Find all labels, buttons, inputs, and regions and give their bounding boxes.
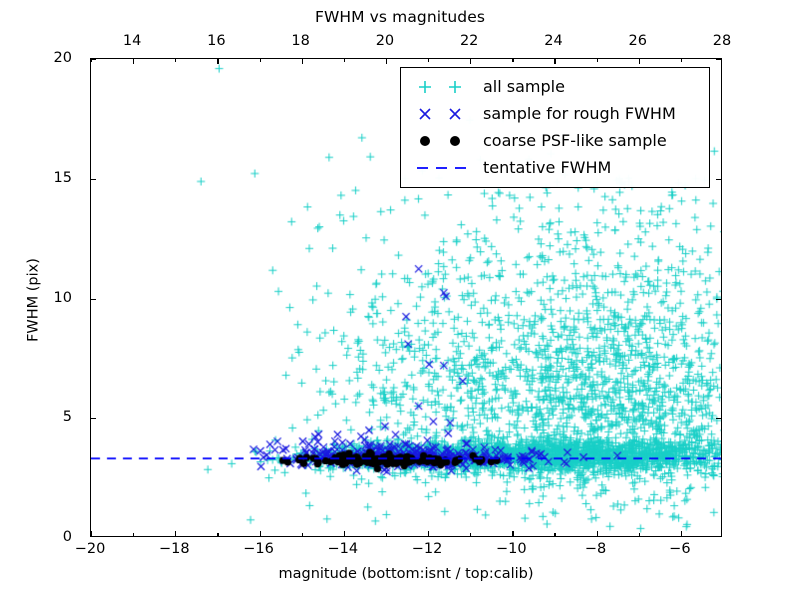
y-tick-right <box>716 59 721 60</box>
x-tick-major <box>597 531 598 536</box>
legend-item: tentative FWHM <box>409 154 701 181</box>
x-tick-major <box>512 531 513 536</box>
page-title: FWHM vs magnitudes <box>0 8 800 26</box>
y-tick-right <box>716 299 721 300</box>
x-top-tick-major <box>302 59 303 64</box>
x-top-tick-minor <box>344 59 345 62</box>
x-top-tick-major <box>470 59 471 64</box>
y-tick-major <box>91 299 96 300</box>
x-tick-minor <box>217 533 218 536</box>
y-tick-major <box>91 59 96 60</box>
y-axis-label: FWHM (pix) <box>26 61 42 540</box>
x-tick-minor <box>470 533 471 536</box>
x-tick-major <box>175 531 176 536</box>
x-top-tick-minor <box>681 59 682 62</box>
legend-item: sample for rough FWHM <box>409 100 701 127</box>
y-tick-label: 5 <box>63 409 72 425</box>
x-top-tick-minor <box>597 59 598 62</box>
x-tick-major <box>91 531 92 536</box>
y-tick-label: 10 <box>54 290 72 306</box>
figure-canvas: FWHM vs magnitudes −20−18−16−14−12−10−8−… <box>0 0 800 600</box>
x-tick-label: −12 <box>412 541 443 557</box>
x-tick-major <box>260 531 261 536</box>
x-top-tick-label: 14 <box>123 33 141 49</box>
x-top-tick-major <box>217 59 218 64</box>
x-top-tick-minor <box>512 59 513 62</box>
x-tick-minor <box>133 533 134 536</box>
circle-marker-icon <box>409 129 483 153</box>
y-tick-right <box>716 179 721 180</box>
x-tick-major <box>428 531 429 536</box>
x-tick-minor <box>302 533 303 536</box>
x-top-tick-label: 20 <box>376 33 394 49</box>
legend-item: coarse PSF-like sample <box>409 127 701 154</box>
x-tick-label: −18 <box>159 541 190 557</box>
y-tick-label: 0 <box>63 529 72 545</box>
x-top-tick-minor <box>260 59 261 62</box>
x-top-tick-minor <box>175 59 176 62</box>
y-tick-major <box>91 418 96 419</box>
x-tick-minor <box>554 533 555 536</box>
x-tick-minor <box>386 533 387 536</box>
x-top-tick-minor <box>428 59 429 62</box>
legend-item-label: sample for rough FWHM <box>483 106 676 122</box>
x-tick-label: −16 <box>243 541 274 557</box>
x-tick-major <box>344 531 345 536</box>
x-top-tick-major <box>133 59 134 64</box>
x-top-tick-label: 28 <box>713 33 731 49</box>
y-tick-major <box>91 179 96 180</box>
x-tick-major <box>681 531 682 536</box>
cross-marker-icon <box>409 102 483 126</box>
y-tick-label: 15 <box>54 170 72 186</box>
x-top-tick-label: 18 <box>291 33 309 49</box>
x-top-tick-major <box>554 59 555 64</box>
x-top-tick-label: 26 <box>628 33 646 49</box>
chart-legend: all samplesample for rough FWHMcoarse PS… <box>400 67 710 188</box>
x-tick-label: −6 <box>669 541 690 557</box>
x-top-tick-major <box>386 59 387 64</box>
legend-item-label: all sample <box>483 79 565 95</box>
dashed-line-marker-icon <box>409 156 483 180</box>
x-axis-label: magnitude (bottom:isnt / top:calib) <box>90 566 722 582</box>
x-tick-label: −14 <box>327 541 358 557</box>
x-top-tick-label: 16 <box>207 33 225 49</box>
x-tick-label: −20 <box>75 541 106 557</box>
y-tick-right <box>716 418 721 419</box>
legend-item: all sample <box>409 73 701 100</box>
x-tick-label: −8 <box>585 541 606 557</box>
x-top-tick-label: 24 <box>544 33 562 49</box>
x-tick-label: −10 <box>496 541 527 557</box>
y-tick-label: 20 <box>54 50 72 66</box>
legend-item-label: tentative FWHM <box>483 160 611 176</box>
x-tick-minor <box>639 533 640 536</box>
legend-item-label: coarse PSF-like sample <box>483 133 667 149</box>
x-top-tick-label: 22 <box>460 33 478 49</box>
x-top-tick-major <box>639 59 640 64</box>
plus-marker-icon <box>409 75 483 99</box>
